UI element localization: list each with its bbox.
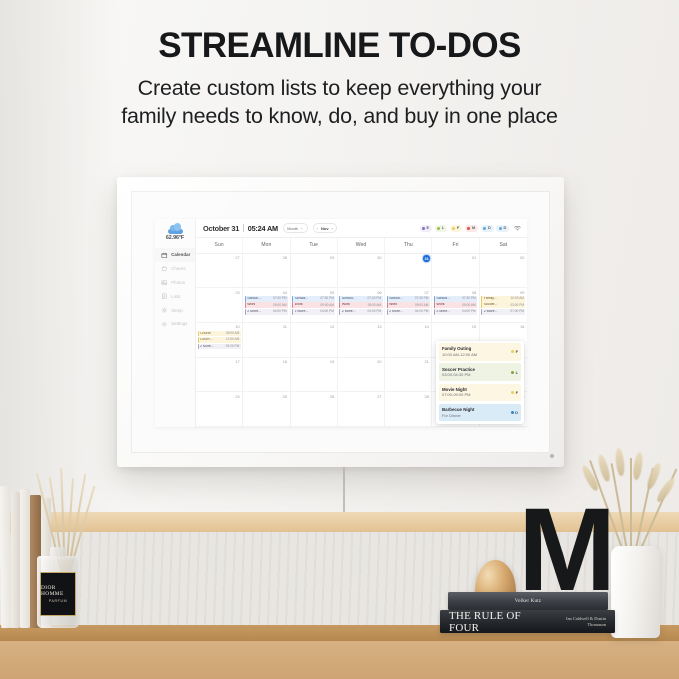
event-time: 03:00 PM: [510, 304, 524, 307]
event-time: 10:00 AM: [511, 297, 524, 300]
reed-diffuser: DIOR HOMME PARFUM: [30, 468, 88, 628]
calendar-day-cell[interactable]: 20: [338, 358, 385, 392]
event-card[interactable]: Family Outing 10:00 AM-12:00 AM F: [439, 343, 522, 361]
event-member: L: [511, 370, 518, 375]
console-table-front: [0, 641, 679, 679]
wifi-icon[interactable]: [514, 225, 521, 231]
calendar-view: Sun Mon Tue Wed Thu Fri Sat 272829303101…: [196, 238, 527, 427]
day-number: 20: [339, 359, 382, 364]
app-main: October 31 05:24 AM Month ⌄ ‹ Nov ›: [196, 219, 527, 427]
event-detail-panel: Family Outing 10:00 AM-12:00 AM F Soccer…: [436, 341, 524, 424]
family-calendar-app: 62.96°F Calendar: [155, 219, 527, 427]
calendar-day-cell[interactable]: 30: [338, 254, 385, 288]
sidebar-item-label: Settings: [171, 321, 187, 326]
event-title: Soccer...: [484, 303, 498, 307]
brand-sub: PARFUM: [49, 599, 68, 603]
calendar-day-cell[interactable]: 29: [291, 254, 338, 288]
sidebar-item-label: Lists: [171, 294, 180, 299]
calendar-day-cell[interactable]: 04School...07:30 PMWork09:00 AM2 More...…: [243, 288, 290, 322]
calendar-event[interactable]: School...07:30 PM: [292, 296, 335, 302]
day-number: 05: [292, 290, 335, 295]
event-time: 07:30 PM: [462, 297, 476, 300]
book: A GOOD GIRL'S GUIDE: [20, 489, 30, 628]
event-title: Church: [200, 332, 211, 336]
member-chip[interactable]: F: [450, 225, 463, 232]
current-month-label: Nov: [321, 226, 329, 231]
event-member: F: [511, 390, 518, 395]
event-title: 2 More...: [484, 310, 498, 314]
calendar-event[interactable]: 2 More...04:00 PM: [292, 309, 335, 315]
day-number: 26: [292, 394, 335, 399]
calendar-day-cell[interactable]: 19: [291, 358, 338, 392]
event-time: 04:00 PM: [368, 310, 382, 313]
event-time: 04:00 PM: [462, 310, 476, 313]
calendar-day-cell[interactable]: 27: [338, 392, 385, 426]
brand-name: DIOR HOMME: [41, 585, 75, 597]
calendar-event[interactable]: Work09:00 AM: [434, 302, 477, 308]
sidebar-item-lists[interactable]: Lists: [155, 289, 195, 303]
day-number: 16: [481, 325, 525, 330]
event-title: 2 More...: [436, 310, 450, 314]
event-time: 03:00 PM: [226, 345, 240, 348]
day-event-list: School...07:30 PMWork09:00 AM2 More...04…: [434, 296, 477, 315]
next-month-button[interactable]: ›: [332, 226, 333, 231]
day-number: 03: [198, 290, 241, 295]
day-event-list: Family...10:00 AMSoccer...03:00 PM2 More…: [481, 296, 525, 315]
bottle-label: DIOR HOMME PARFUM: [40, 572, 76, 616]
vase: [611, 546, 660, 638]
calendar-day-cell[interactable]: 28: [243, 254, 290, 288]
calendar-event[interactable]: 2 More...04:00 PM: [339, 309, 382, 315]
sidebar-item-calendar[interactable]: Calendar: [155, 248, 195, 262]
member-color-dot: [499, 227, 502, 230]
event-time: 09:00 AM: [273, 304, 286, 307]
member-initial: F: [516, 349, 518, 354]
event-time: 04:00 PM: [273, 310, 287, 313]
temperature-label: 62.96°F: [166, 235, 184, 241]
calendar-day-cell[interactable]: 08School...07:30 PMWork09:00 AM2 More...…: [432, 288, 479, 322]
event-time: 03:00-04:30 PM: [442, 373, 475, 378]
calendar-day-cell[interactable]: 25: [243, 392, 290, 426]
member-initial: D: [515, 410, 518, 415]
event-time: 09:00 AM: [320, 304, 333, 307]
day-header: Sun: [196, 238, 243, 253]
calendar-event[interactable]: Soccer...03:00 PM: [481, 302, 525, 308]
subtitle-line-2: family needs to know, do, and buy in one…: [0, 103, 679, 131]
calendar-day-cell[interactable]: 17: [196, 358, 243, 392]
display-screen[interactable]: 62.96°F Calendar: [155, 219, 527, 427]
calendar-day-cell[interactable]: 13: [338, 323, 385, 357]
calendar-day-cell[interactable]: 26: [291, 392, 338, 426]
day-event-list: School...07:30 PMWork09:00 AM2 More...04…: [292, 296, 335, 315]
calendar-event[interactable]: Work09:00 AM: [292, 302, 335, 308]
member-initial: D: [503, 226, 506, 230]
view-selector[interactable]: Month ⌄: [283, 223, 308, 233]
member-initial: L: [442, 226, 444, 230]
month-navigator: ‹ Nov ›: [313, 223, 338, 233]
page-title: STREAMLINE TO-DOS: [0, 26, 679, 66]
day-number: 08: [434, 290, 477, 295]
stacked-book-bottom: THE RULE OF FOUR Ian Caldwell & Dustin T…: [440, 610, 615, 633]
marketing-copy: STREAMLINE TO-DOS Create custom lists to…: [0, 26, 679, 130]
calendar-event[interactable]: 2 More...07:00 PM: [481, 309, 525, 315]
member-chip[interactable]: L: [435, 225, 448, 232]
book: [11, 492, 20, 628]
member-initial: M: [472, 226, 475, 230]
day-event-list: School...07:30 PMWork09:00 AM2 More...04…: [245, 296, 288, 315]
power-indicator-dot: [550, 454, 554, 458]
page-subtitle: Create custom lists to keep everything y…: [0, 75, 679, 130]
calendar-event[interactable]: 2 More...04:00 PM: [245, 309, 288, 315]
member-color-dot: [422, 227, 425, 230]
sidebar-item-settings[interactable]: Settings: [155, 317, 195, 331]
event-card[interactable]: Barbecue Night For Dinner D: [439, 404, 522, 422]
day-number: 13: [339, 325, 382, 330]
event-card[interactable]: Soccer Practice 03:00-04:30 PM L: [439, 363, 522, 381]
app-topbar: October 31 05:24 AM Month ⌄ ‹ Nov ›: [196, 219, 527, 238]
event-time: 04:00 PM: [320, 310, 334, 313]
current-time: 05:24 AM: [248, 224, 278, 233]
member-initial: F: [516, 390, 518, 395]
event-title: 2 More...: [200, 345, 214, 349]
calendar-day-cell[interactable]: 05School...07:30 PMWork09:00 AM2 More...…: [291, 288, 338, 322]
calendar-day-cell[interactable]: 28: [385, 392, 432, 426]
member-initial: L: [516, 370, 518, 375]
stacked-book-top: Volker Kutz: [448, 592, 608, 610]
day-header: Wed: [338, 238, 385, 253]
calendar-event[interactable]: 2 More...04:00 PM: [434, 309, 477, 315]
day-event-list: Church09:00 AMLunch ...12:00 AM2 More...…: [198, 331, 241, 350]
calendar-day-cell[interactable]: 24: [196, 392, 243, 426]
member-color-dot: [511, 411, 514, 414]
event-title: Movie Night: [442, 387, 470, 392]
member-chip[interactable]: D: [496, 225, 509, 232]
chevron-down-icon: ⌄: [300, 226, 303, 230]
day-number: 07: [387, 290, 430, 295]
event-member: F: [511, 349, 518, 354]
event-title: School...: [342, 297, 356, 301]
smart-display-frame: 62.96°F Calendar: [117, 177, 564, 467]
event-title: Lunch ...: [200, 338, 213, 342]
event-title: School...: [389, 297, 403, 301]
member-chip[interactable]: M: [465, 225, 478, 232]
event-time: 07:30 PM: [415, 297, 429, 300]
day-number: 11: [245, 325, 288, 330]
member-color-dot: [511, 371, 514, 374]
day-number: 28: [245, 255, 288, 260]
day-number: 21: [387, 359, 430, 364]
member-chip[interactable]: E: [420, 225, 433, 232]
day-header: Mon: [243, 238, 290, 253]
member-color-dot: [467, 227, 470, 230]
date-time-display: October 31 05:24 AM: [203, 224, 278, 233]
calendar-day-cell[interactable]: 02: [480, 254, 527, 288]
calendar-day-cell[interactable]: 09Family...10:00 AMSoccer...03:00 PM2 Mo…: [480, 288, 527, 322]
family-member-filters: E L F M: [420, 225, 521, 232]
today-day-number: 31: [423, 255, 429, 261]
event-title: 2 More...: [247, 310, 261, 314]
cloud-icon: [168, 225, 183, 234]
event-time: 07:00 PM: [510, 310, 524, 313]
event-time: 07:30 PM: [368, 297, 382, 300]
day-number: 30: [339, 255, 382, 260]
calendar-event[interactable]: Lunch ...12:00 AM: [198, 337, 241, 343]
member-color-dot: [452, 227, 455, 230]
sidebar-item-label: Sleep: [171, 308, 183, 313]
event-title: Work: [247, 303, 255, 307]
day-number: 27: [198, 255, 241, 260]
current-date: October 31: [203, 224, 239, 233]
sidebar-item-label: Photos: [171, 280, 185, 285]
bottle-neck: [50, 547, 66, 557]
calendar-day-cell[interactable]: 06School...07:30 PMWork09:00 AM2 More...…: [338, 288, 385, 322]
member-color-dot: [483, 227, 486, 230]
sidebar-item-label: Calendar: [171, 252, 190, 257]
calendar-day-cell[interactable]: 18: [243, 358, 290, 392]
sidebar-item-sleep[interactable]: Sleep: [155, 303, 195, 317]
calendar-day-cell[interactable]: 11: [243, 323, 290, 357]
event-time: 10:00 AM-12:00 AM: [442, 353, 477, 358]
day-number: 10: [198, 325, 241, 330]
day-header: Tue: [291, 238, 338, 253]
event-time: 09:00 AM: [462, 304, 475, 307]
event-title: School...: [295, 297, 309, 301]
day-number: 15: [434, 325, 477, 330]
event-title: School...: [247, 297, 261, 301]
day-number: 24: [198, 394, 241, 399]
calendar-day-cell[interactable]: 21: [385, 358, 432, 392]
prev-month-button[interactable]: ‹: [317, 226, 318, 231]
day-header: Sat: [480, 238, 527, 253]
event-title: Barbecue Night: [442, 407, 474, 412]
event-time: For Dinner: [442, 414, 474, 419]
event-time: 09:00 AM: [415, 304, 428, 307]
member-initial: D: [488, 226, 491, 230]
decorative-letter: M: [518, 504, 590, 600]
calendar-day-cell[interactable]: 12: [291, 323, 338, 357]
event-time: 12:00 AM: [226, 338, 239, 341]
book-stack-right: Volker Kutz THE RULE OF FOUR Ian Caldwel…: [440, 592, 615, 634]
day-number: 09: [481, 290, 525, 295]
weather-widget[interactable]: 62.96°F: [155, 222, 195, 244]
calendar-week-row: 27282930310102: [196, 254, 527, 289]
event-time: 07:00-09:00 PM: [442, 393, 470, 398]
event-title: Work: [389, 303, 397, 307]
stacked-book-top-title: Volker Kutz: [515, 599, 541, 604]
day-number: 27: [339, 394, 382, 399]
event-member: D: [511, 410, 518, 415]
member-color-dot: [437, 227, 440, 230]
calendar-day-cell[interactable]: 03: [196, 288, 243, 322]
calendar-day-cell[interactable]: 10Church09:00 AMLunch ...12:00 AM2 More.…: [196, 323, 243, 357]
sidebar-item-chores[interactable]: Chores: [155, 262, 195, 276]
day-event-list: School...07:30 PMWork09:00 AM2 More...04…: [339, 296, 382, 315]
stacked-book-bottom-title: THE RULE OF FOUR: [449, 610, 549, 634]
basket-icon: [161, 265, 168, 272]
day-number: 14: [387, 325, 430, 330]
sidebar-nav: Calendar Chores: [155, 244, 195, 331]
event-time: 07:30 PM: [273, 297, 287, 300]
member-chip[interactable]: D: [481, 225, 494, 232]
sidebar-item-photos[interactable]: Photos: [155, 276, 195, 290]
member-color-dot: [511, 391, 514, 394]
day-number: 06: [339, 290, 382, 295]
day-number: 12: [292, 325, 335, 330]
day-number: 18: [245, 359, 288, 364]
day-header: Fri: [432, 238, 479, 253]
app-sidebar: 62.96°F Calendar: [155, 219, 196, 427]
member-initial: F: [457, 226, 459, 230]
day-number: 04: [245, 290, 288, 295]
day-number: 17: [198, 359, 241, 364]
calendar-week-row: 0304School...07:30 PMWork09:00 AM2 More.…: [196, 288, 527, 323]
calendar-icon: [161, 252, 168, 259]
calendar-day-cell[interactable]: 14: [385, 323, 432, 357]
event-title: Family Outing: [442, 346, 477, 351]
calendar-event[interactable]: School...07:30 PM: [339, 296, 382, 302]
calendar-day-cell[interactable]: 07School...07:30 PMWork09:00 AM2 More...…: [385, 288, 432, 322]
event-title: 2 More...: [295, 310, 309, 314]
calendar-day-cell[interactable]: 31: [385, 254, 432, 288]
day-header: Thu: [385, 238, 432, 253]
diffuser-bottle: DIOR HOMME PARFUM: [37, 556, 79, 628]
member-color-dot: [511, 350, 514, 353]
event-time: 04:00 PM: [415, 310, 429, 313]
day-number: 19: [292, 359, 335, 364]
day-event-list: School...07:30 PMWork09:00 AM2 More...04…: [387, 296, 430, 315]
sleep-icon: [161, 307, 168, 314]
calendar-event[interactable]: 2 More...03:00 PM: [198, 344, 241, 350]
day-number: 01: [434, 255, 477, 260]
day-number: 25: [245, 394, 288, 399]
view-selector-label: Month: [287, 226, 298, 231]
event-time: 09:00 AM: [368, 304, 381, 307]
event-title: 2 More...: [342, 310, 356, 314]
day-number: 28: [387, 394, 430, 399]
event-time: 09:00 AM: [226, 332, 239, 335]
event-title: Family...: [484, 297, 497, 301]
day-number: 02: [481, 255, 525, 260]
member-initial: E: [427, 226, 430, 230]
calendar-day-cell[interactable]: 27: [196, 254, 243, 288]
calendar-event[interactable]: 2 More...04:00 PM: [387, 309, 430, 315]
event-title: Soccer Practice: [442, 367, 475, 372]
day-number: 29: [292, 255, 335, 260]
calendar-event[interactable]: School...07:30 PM: [434, 296, 477, 302]
event-title: Work: [436, 303, 444, 307]
calendar-event[interactable]: Work09:00 AM: [245, 302, 288, 308]
calendar-day-cell[interactable]: 01: [432, 254, 479, 288]
calendar-event[interactable]: Church09:00 AM: [198, 331, 241, 337]
datetime-divider: [243, 224, 244, 232]
event-title: Work: [295, 303, 303, 307]
calendar-event[interactable]: Family...10:00 AM: [481, 296, 525, 302]
sidebar-item-label: Chores: [171, 266, 185, 271]
calendar-event[interactable]: School...07:30 PM: [387, 296, 430, 302]
event-title: 2 More...: [389, 310, 403, 314]
event-time: 07:30 PM: [320, 297, 334, 300]
event-title: School...: [436, 297, 450, 301]
calendar-day-headers: Sun Mon Tue Wed Thu Fri Sat: [196, 238, 527, 254]
gear-icon: [161, 321, 168, 328]
calendar-event[interactable]: Work09:00 AM: [339, 302, 382, 308]
event-title: Work: [342, 303, 350, 307]
stacked-book-authors: Ian Caldwell & Dustin Thomason: [549, 616, 606, 627]
subtitle-line-1: Create custom lists to keep everything y…: [0, 75, 679, 103]
calendar-event[interactable]: School...07:30 PM: [245, 296, 288, 302]
list-icon: [161, 293, 168, 300]
photos-icon: [161, 279, 168, 286]
event-card[interactable]: Movie Night 07:00-09:00 PM F: [439, 384, 522, 402]
calendar-event[interactable]: Work09:00 AM: [387, 302, 430, 308]
